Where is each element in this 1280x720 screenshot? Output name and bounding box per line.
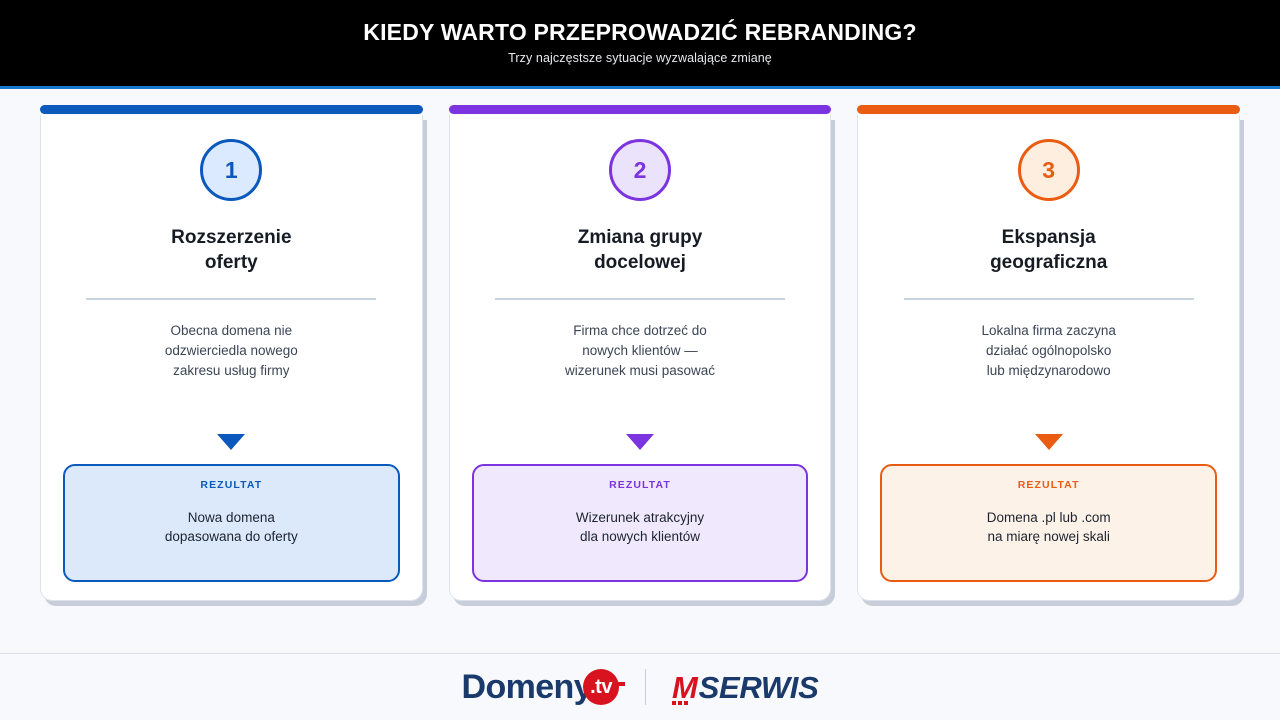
card-title: Zmiana grupy docelowej <box>578 225 703 275</box>
result-box: REZULTAT Wizerunek atrakcyjny dla nowych… <box>472 464 809 582</box>
result-label: REZULTAT <box>1018 479 1080 491</box>
header-banner: KIEDY WARTO PRZEPROWADZIĆ REBRANDING? Tr… <box>0 0 1280 89</box>
tv-badge-icon: .tv <box>583 669 619 705</box>
result-text: Domena .pl lub .com na miarę nowej skali <box>987 508 1111 546</box>
mserwis-wordmark: SERWIS <box>699 672 819 703</box>
arrow-down-icon <box>217 434 245 450</box>
domeny-tv-logo[interactable]: Domeny .tv <box>461 669 619 705</box>
arrow-down-icon <box>626 434 654 450</box>
card-number-badge: 1 <box>200 139 262 201</box>
card-body: 2 Zmiana grupy docelowej Firma chce dotr… <box>449 115 832 601</box>
card-title: Ekspansja geograficzna <box>990 225 1107 275</box>
mserwis-initial: M <box>672 672 699 703</box>
result-label: REZULTAT <box>609 479 671 491</box>
footer-bar: Domeny .tv M SERWIS <box>0 653 1280 720</box>
card-number-badge: 3 <box>1018 139 1080 201</box>
tv-dash-mark <box>616 682 625 686</box>
card-divider <box>495 298 785 300</box>
mserwis-dots-icon <box>672 701 688 705</box>
card-title: Rozszerzenie oferty <box>171 225 291 275</box>
card-number-badge: 2 <box>609 139 671 201</box>
page-subtitle: Trzy najczęstsze sytuacje wyzwalające zm… <box>508 52 772 66</box>
mserwis-initial-label: M <box>672 670 698 705</box>
card-number-label: 3 <box>1042 157 1055 184</box>
card-rozszerzenie-oferty[interactable]: 1 Rozszerzenie oferty Obecna domena nie … <box>40 105 423 601</box>
cards-container: 1 Rozszerzenie oferty Obecna domena nie … <box>0 89 1280 653</box>
card-body: 1 Rozszerzenie oferty Obecna domena nie … <box>40 115 423 601</box>
arrow-down-icon <box>1035 434 1063 450</box>
card-divider <box>904 298 1194 300</box>
result-text: Wizerunek atrakcyjny dla nowych klientów <box>576 508 704 546</box>
mserwis-logo[interactable]: M SERWIS <box>672 672 818 703</box>
result-box: REZULTAT Nowa domena dopasowana do ofert… <box>63 464 400 582</box>
card-body: 3 Ekspansja geograficzna Lokalna firma z… <box>857 115 1240 601</box>
page-title: KIEDY WARTO PRZEPROWADZIĆ REBRANDING? <box>363 20 916 45</box>
logo-separator <box>645 669 646 705</box>
tv-badge-label: .tv <box>590 677 612 697</box>
card-description: Obecna domena nie odzwierciedla nowego z… <box>165 321 298 380</box>
card-accent-bar <box>40 105 423 114</box>
card-accent-bar <box>449 105 832 114</box>
card-description: Firma chce dotrzeć do nowych klientów — … <box>565 321 715 380</box>
card-ekspansja-geograficzna[interactable]: 3 Ekspansja geograficzna Lokalna firma z… <box>857 105 1240 601</box>
domeny-wordmark: Domeny <box>461 670 592 704</box>
slide-root: KIEDY WARTO PRZEPROWADZIĆ REBRANDING? Tr… <box>0 0 1280 720</box>
result-box: REZULTAT Domena .pl lub .com na miarę no… <box>880 464 1217 582</box>
card-zmiana-grupy-docelowej[interactable]: 2 Zmiana grupy docelowej Firma chce dotr… <box>449 105 832 601</box>
result-text: Nowa domena dopasowana do oferty <box>165 508 298 546</box>
card-accent-bar <box>857 105 1240 114</box>
card-description: Lokalna firma zaczyna działać ogólnopols… <box>982 321 1116 380</box>
card-number-label: 1 <box>225 157 238 184</box>
card-divider <box>86 298 376 300</box>
card-number-label: 2 <box>634 157 647 184</box>
result-label: REZULTAT <box>200 479 262 491</box>
